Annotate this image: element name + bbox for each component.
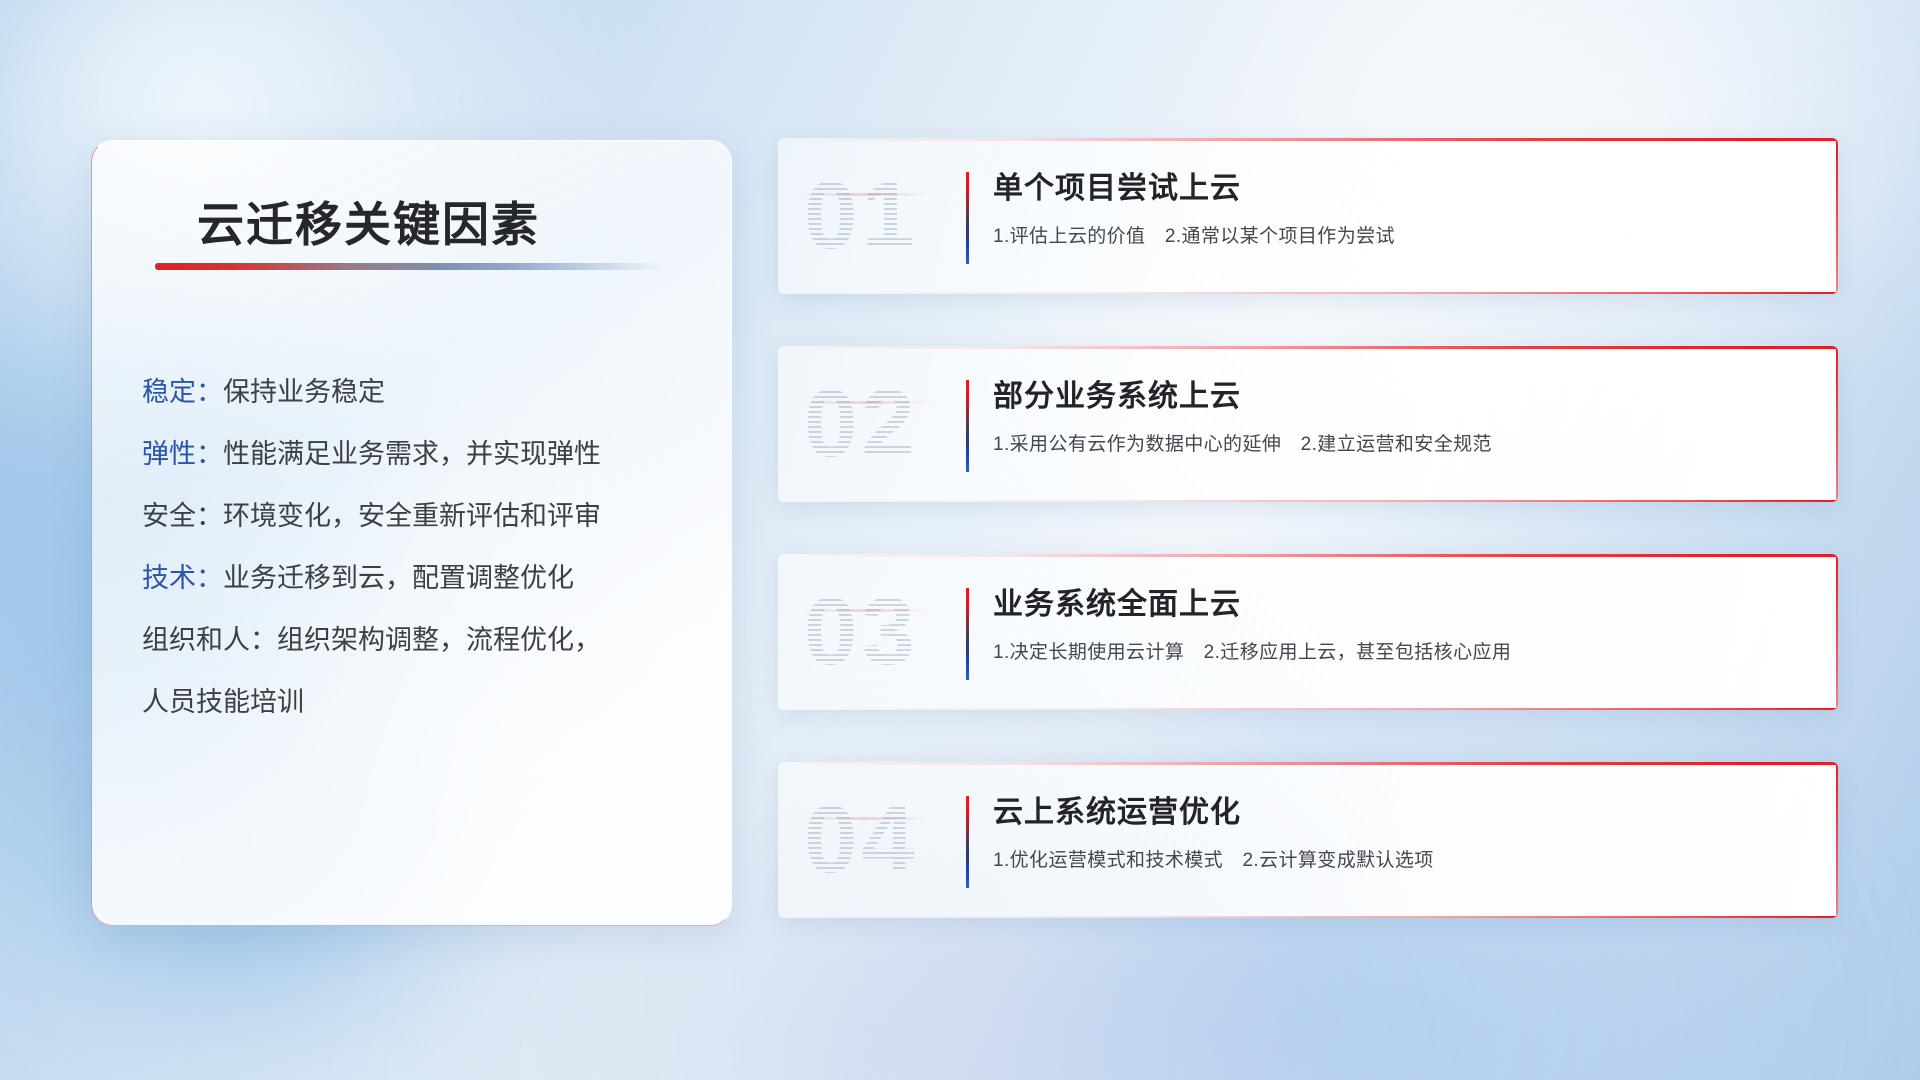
step-content: 业务系统全面上云 1.决定长期使用云计算 2.迁移应用上云，甚至包括核心应用 (993, 586, 1814, 665)
migration-steps-list: 01 单个项目尝试上云 1.评估上云的价值 2.通常以某个项目作为尝试 02 部… (778, 138, 1838, 918)
step-content: 部分业务系统上云 1.采用公有云作为数据中心的延伸 2.建立运营和安全规范 (993, 378, 1814, 457)
factor-text: 业务迁移到云，配置调整优化 (223, 563, 574, 593)
card-right-accent-line (1836, 346, 1838, 502)
card-top-accent-line (778, 554, 1838, 557)
step-title: 云上系统运营优化 (993, 794, 1814, 832)
step-subtitle: 1.优化运营模式和技术模式 2.云计算变成默认选项 (993, 849, 1814, 874)
step-accent-bar (966, 796, 969, 888)
factor-text: 环境变化，安全重新评估和评审 (223, 501, 601, 531)
step-title: 单个项目尝试上云 (993, 170, 1814, 208)
factor-label: 组织和人： (142, 625, 277, 655)
card-right-accent-line (1836, 138, 1838, 294)
list-item-continuation: 人员技能培训 (142, 671, 705, 733)
step-card-02[interactable]: 02 部分业务系统上云 1.采用公有云作为数据中心的延伸 2.建立运营和安全规范 (778, 346, 1838, 502)
page-title: 云迁移关键因素 (197, 186, 540, 255)
step-card-03[interactable]: 03 业务系统全面上云 1.决定长期使用云计算 2.迁移应用上云，甚至包括核心应… (778, 554, 1838, 710)
step-subtitle: 1.决定长期使用云计算 2.迁移应用上云，甚至包括核心应用 (993, 641, 1814, 666)
card-top-accent-line (778, 762, 1838, 765)
list-item: 稳定：保持业务稳定 (142, 361, 705, 423)
step-card-04[interactable]: 04 云上系统运营优化 1.优化运营模式和技术模式 2.云计算变成默认选项 (778, 762, 1838, 918)
card-right-accent-line (1836, 554, 1838, 710)
factor-label: 安全： (142, 501, 223, 531)
factor-label: 技术： (142, 563, 223, 593)
card-bottom-accent-line (778, 708, 1838, 710)
factor-list: 稳定：保持业务稳定 弹性：性能满足业务需求，并实现弹性 安全：环境变化，安全重新… (142, 361, 705, 733)
step-number: 02 (804, 376, 919, 472)
list-item: 弹性：性能满足业务需求，并实现弹性 (142, 423, 705, 485)
card-top-accent-line (778, 346, 1838, 349)
factor-text: 人员技能培训 (142, 687, 304, 717)
step-subtitle: 1.采用公有云作为数据中心的延伸 2.建立运营和安全规范 (993, 433, 1814, 458)
step-accent-bar (966, 588, 969, 680)
step-content: 单个项目尝试上云 1.评估上云的价值 2.通常以某个项目作为尝试 (993, 170, 1814, 249)
step-accent-bar (966, 380, 969, 472)
list-item: 技术：业务迁移到云，配置调整优化 (142, 547, 705, 609)
step-number: 01 (804, 168, 919, 264)
step-accent-bar (966, 172, 969, 264)
step-card-01[interactable]: 01 单个项目尝试上云 1.评估上云的价值 2.通常以某个项目作为尝试 (778, 138, 1838, 294)
key-factors-panel: 云迁移关键因素 稳定：保持业务稳定 弹性：性能满足业务需求，并实现弹性 安全：环… (91, 140, 732, 926)
factor-label: 稳定： (142, 377, 223, 407)
card-bottom-accent-line (778, 500, 1838, 502)
list-item: 安全：环境变化，安全重新评估和评审 (142, 485, 705, 547)
card-right-accent-line (1836, 762, 1838, 918)
step-title: 业务系统全面上云 (993, 586, 1814, 624)
factor-text: 组织架构调整，流程优化， (277, 625, 601, 655)
card-bottom-accent-line (778, 292, 1838, 294)
factor-text: 保持业务稳定 (223, 377, 385, 407)
slide-canvas: 云迁移关键因素 稳定：保持业务稳定 弹性：性能满足业务需求，并实现弹性 安全：环… (0, 0, 1920, 1080)
title-underline-gradient (155, 263, 665, 270)
card-top-accent-line (778, 138, 1838, 141)
step-title: 部分业务系统上云 (993, 378, 1814, 416)
step-subtitle: 1.评估上云的价值 2.通常以某个项目作为尝试 (993, 225, 1814, 250)
step-number: 04 (804, 792, 919, 888)
card-bottom-accent-line (778, 916, 1838, 918)
factor-label: 弹性： (142, 439, 223, 469)
step-content: 云上系统运营优化 1.优化运营模式和技术模式 2.云计算变成默认选项 (993, 794, 1814, 873)
list-item: 组织和人：组织架构调整，流程优化， (142, 609, 705, 671)
step-number: 03 (804, 584, 919, 680)
factor-text: 性能满足业务需求，并实现弹性 (223, 439, 601, 469)
